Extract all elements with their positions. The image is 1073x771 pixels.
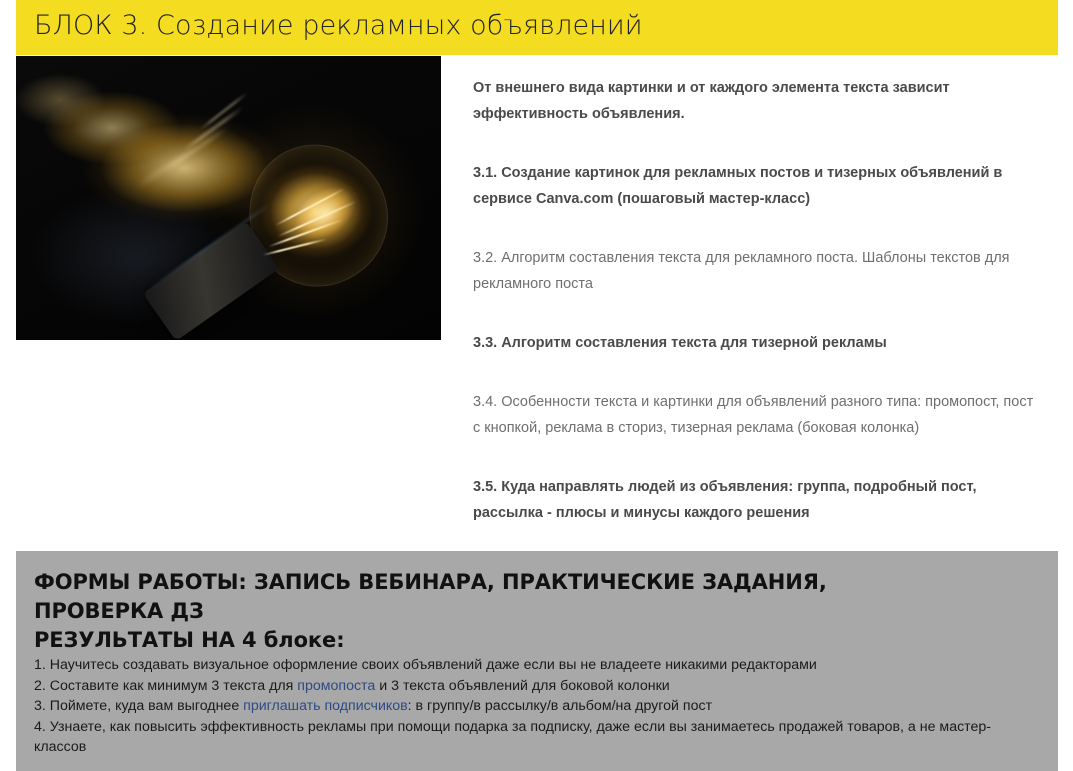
lesson-topics-list: От внешнего вида картинки и от каждого э…: [473, 75, 1035, 585]
results-item-3: 3. Поймете, куда вам выгоднее приглашать…: [34, 696, 1034, 717]
results-item-2: 2. Составите как минимум 3 текста для пр…: [34, 676, 1034, 697]
highlighted-phrase: промопоста: [297, 678, 375, 694]
results-item-1: 1. Научитесь создавать визуальное оформл…: [34, 655, 1034, 676]
results-heading: ФОРМЫ РАБОТЫ: ЗАПИСЬ ВЕБИНАРА, ПРАКТИЧЕС…: [34, 568, 934, 655]
lesson-topic-3-1: 3.1. Создание картинок для рекламных пос…: [473, 160, 1035, 212]
results-heading-line-1: ФОРМЫ РАБОТЫ: ЗАПИСЬ ВЕБИНАРА, ПРАКТИЧЕС…: [34, 570, 827, 623]
lesson-intro-paragraph: От внешнего вида картинки и от каждого э…: [473, 75, 1035, 127]
highlighted-phrase: приглашать подписчиков: [243, 698, 408, 714]
lesson-topic-3-3: 3.3. Алгоритм составления текста для тиз…: [473, 330, 1035, 356]
results-panel: ФОРМЫ РАБОТЫ: ЗАПИСЬ ВЕБИНАРА, ПРАКТИЧЕС…: [16, 551, 1058, 771]
page-root: БЛОК 3. Создание рекламных объявлений От…: [0, 0, 1073, 771]
results-item-4: 4. Узнаете, как повысить эффективность р…: [34, 717, 1034, 758]
results-item-list: 1. Научитесь создавать визуальное оформл…: [34, 655, 1034, 758]
page-title: БЛОК 3. Создание рекламных объявлений: [34, 6, 643, 46]
lesson-topic-3-5: 3.5. Куда направлять людей из объявления…: [473, 474, 1035, 526]
lesson-topic-3-2: 3.2. Алгоритм составления текста для рек…: [473, 245, 1035, 297]
results-heading-line-2: РЕЗУЛЬТАТЫ НА 4 блоке:: [34, 628, 345, 652]
lesson-topic-3-4: 3.4. Особенности текста и картинки для о…: [473, 389, 1035, 441]
block-title-banner: БЛОК 3. Создание рекламных объявлений: [16, 0, 1058, 55]
lightbulb-photo: [16, 56, 441, 340]
